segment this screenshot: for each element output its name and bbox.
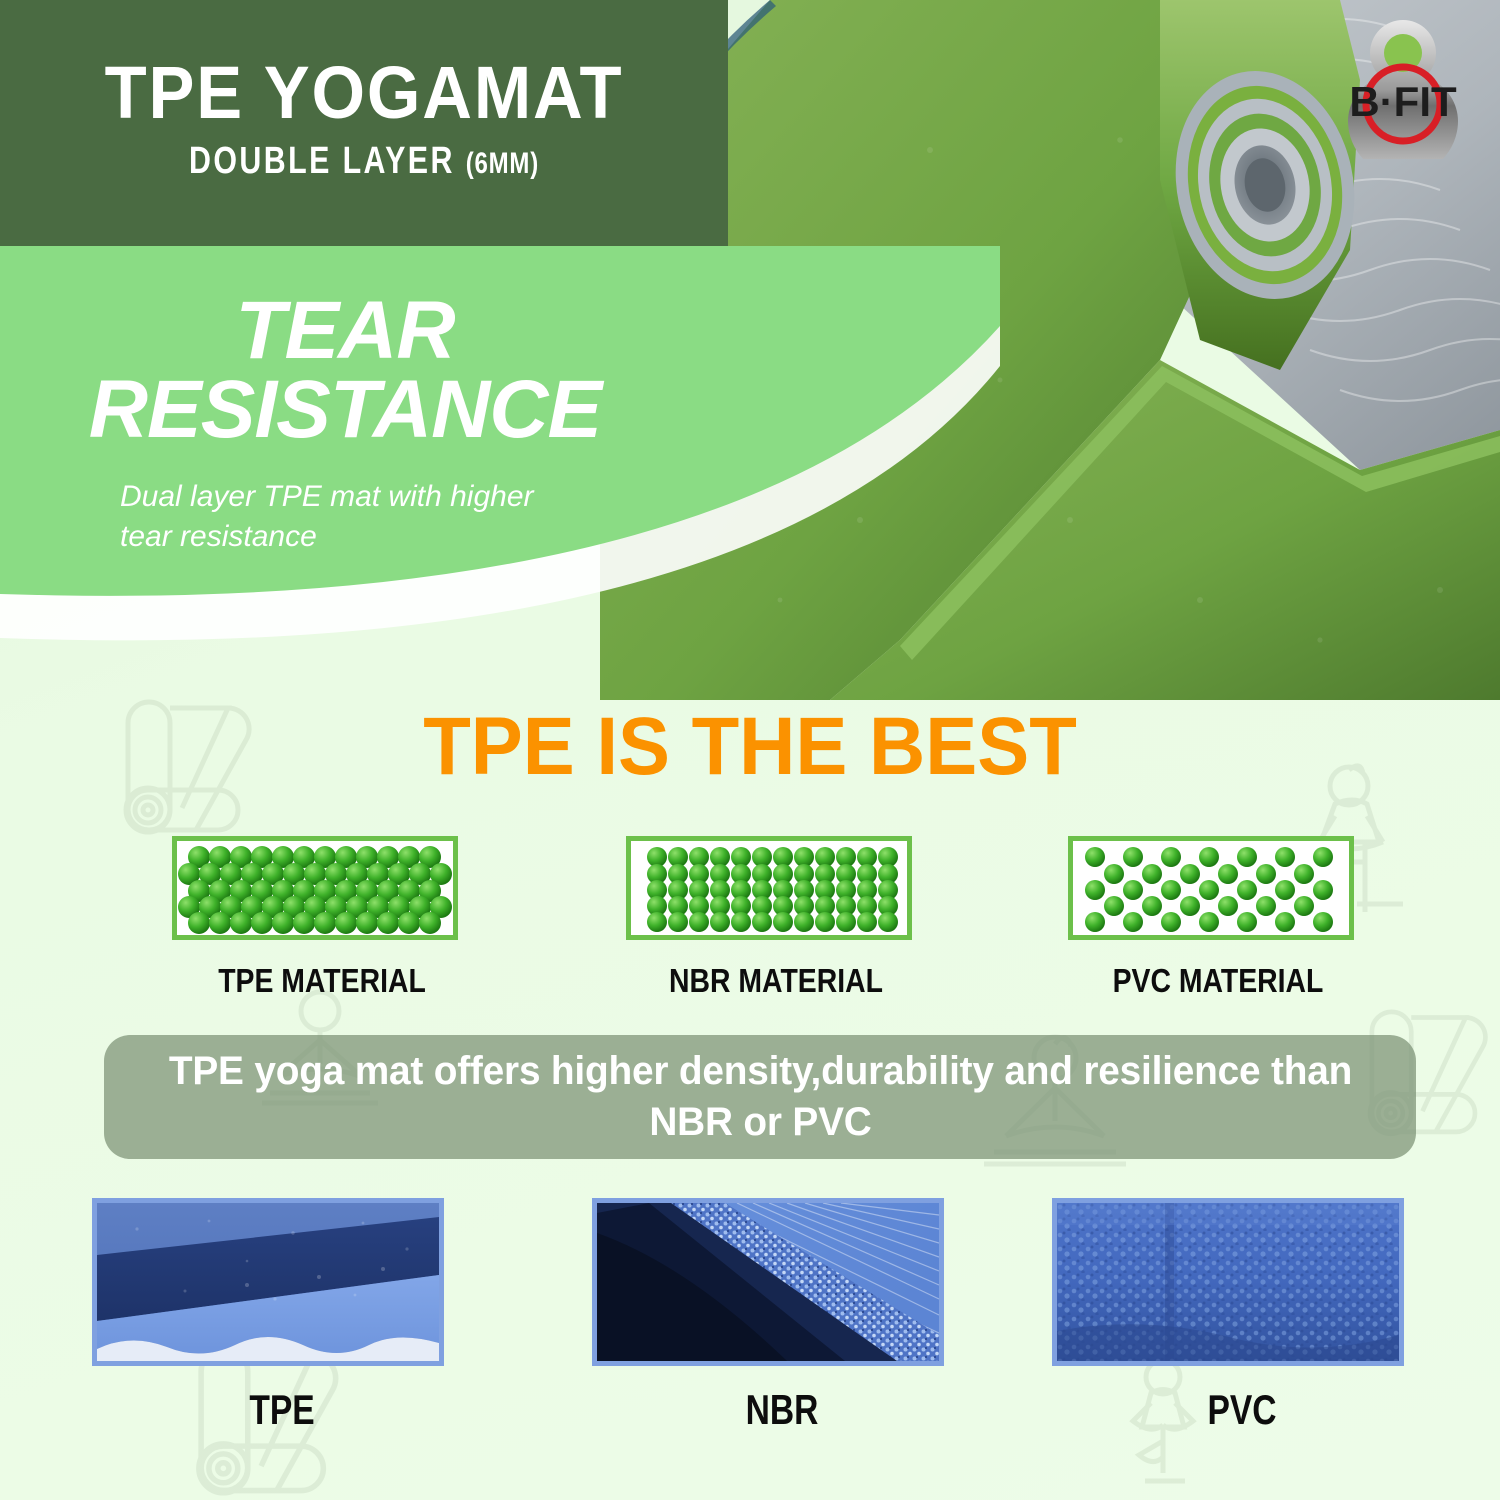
bfit-logo: B·FIT [1328,14,1478,159]
comparison-banner-text: TPE yoga mat offers higher density,durab… [151,1046,1368,1148]
nbr-sample-photo [592,1198,944,1366]
sample-label: TPE [130,1386,434,1434]
sample-label: PVC [1090,1386,1394,1434]
page-subtitle: DOUBLE LAYER (6MM) [73,142,655,180]
material-card-tpe: TPE MATERIAL [172,836,472,1000]
material-card-pvc: PVC MATERIAL [1068,836,1368,1000]
comparison-banner: TPE yoga mat offers higher density,durab… [104,1035,1416,1159]
pvc-bead-diagram [1068,836,1354,940]
tpe-bead-diagram [172,836,458,940]
material-label: TPE MATERIAL [193,962,451,1000]
material-comparison-row: TPE MATERIAL [0,836,1500,1016]
infographic-poster: TPE YOGAMAT DOUBLE LAYER (6MM) B·FIT TEA… [0,0,1500,1500]
subtitle-spec: (6MM) [466,147,539,180]
sample-label: NBR [630,1386,934,1434]
material-label: NBR MATERIAL [647,962,905,1000]
header-band: TPE YOGAMAT DOUBLE LAYER (6MM) [0,0,728,246]
tpe-sample-photo [92,1198,444,1366]
sample-card-pvc: PVC [1052,1198,1432,1434]
tear-resistance-description: Dual layer TPE mat with higher tear resi… [120,477,580,556]
sample-card-nbr: NBR [592,1198,972,1434]
tear-heading-line1: TEAR [0,292,690,371]
subtitle-main: DOUBLE LAYER [189,140,455,182]
sample-card-tpe: TPE [92,1198,472,1434]
comparison-heading: TPE IS THE BEST [38,700,1463,794]
material-label: PVC MATERIAL [1089,962,1347,1000]
page-title: TPE YOGAMAT [25,56,702,130]
logo-text: B·FIT [1349,78,1457,125]
pvc-sample-photo [1052,1198,1404,1366]
material-card-nbr: NBR MATERIAL [626,836,926,1000]
tear-heading-line2: RESISTANCE [0,371,690,450]
nbr-bead-diagram [626,836,912,940]
tear-resistance-heading: TEAR RESISTANCE [0,292,690,449]
sample-photo-row: TPE [0,1198,1500,1458]
